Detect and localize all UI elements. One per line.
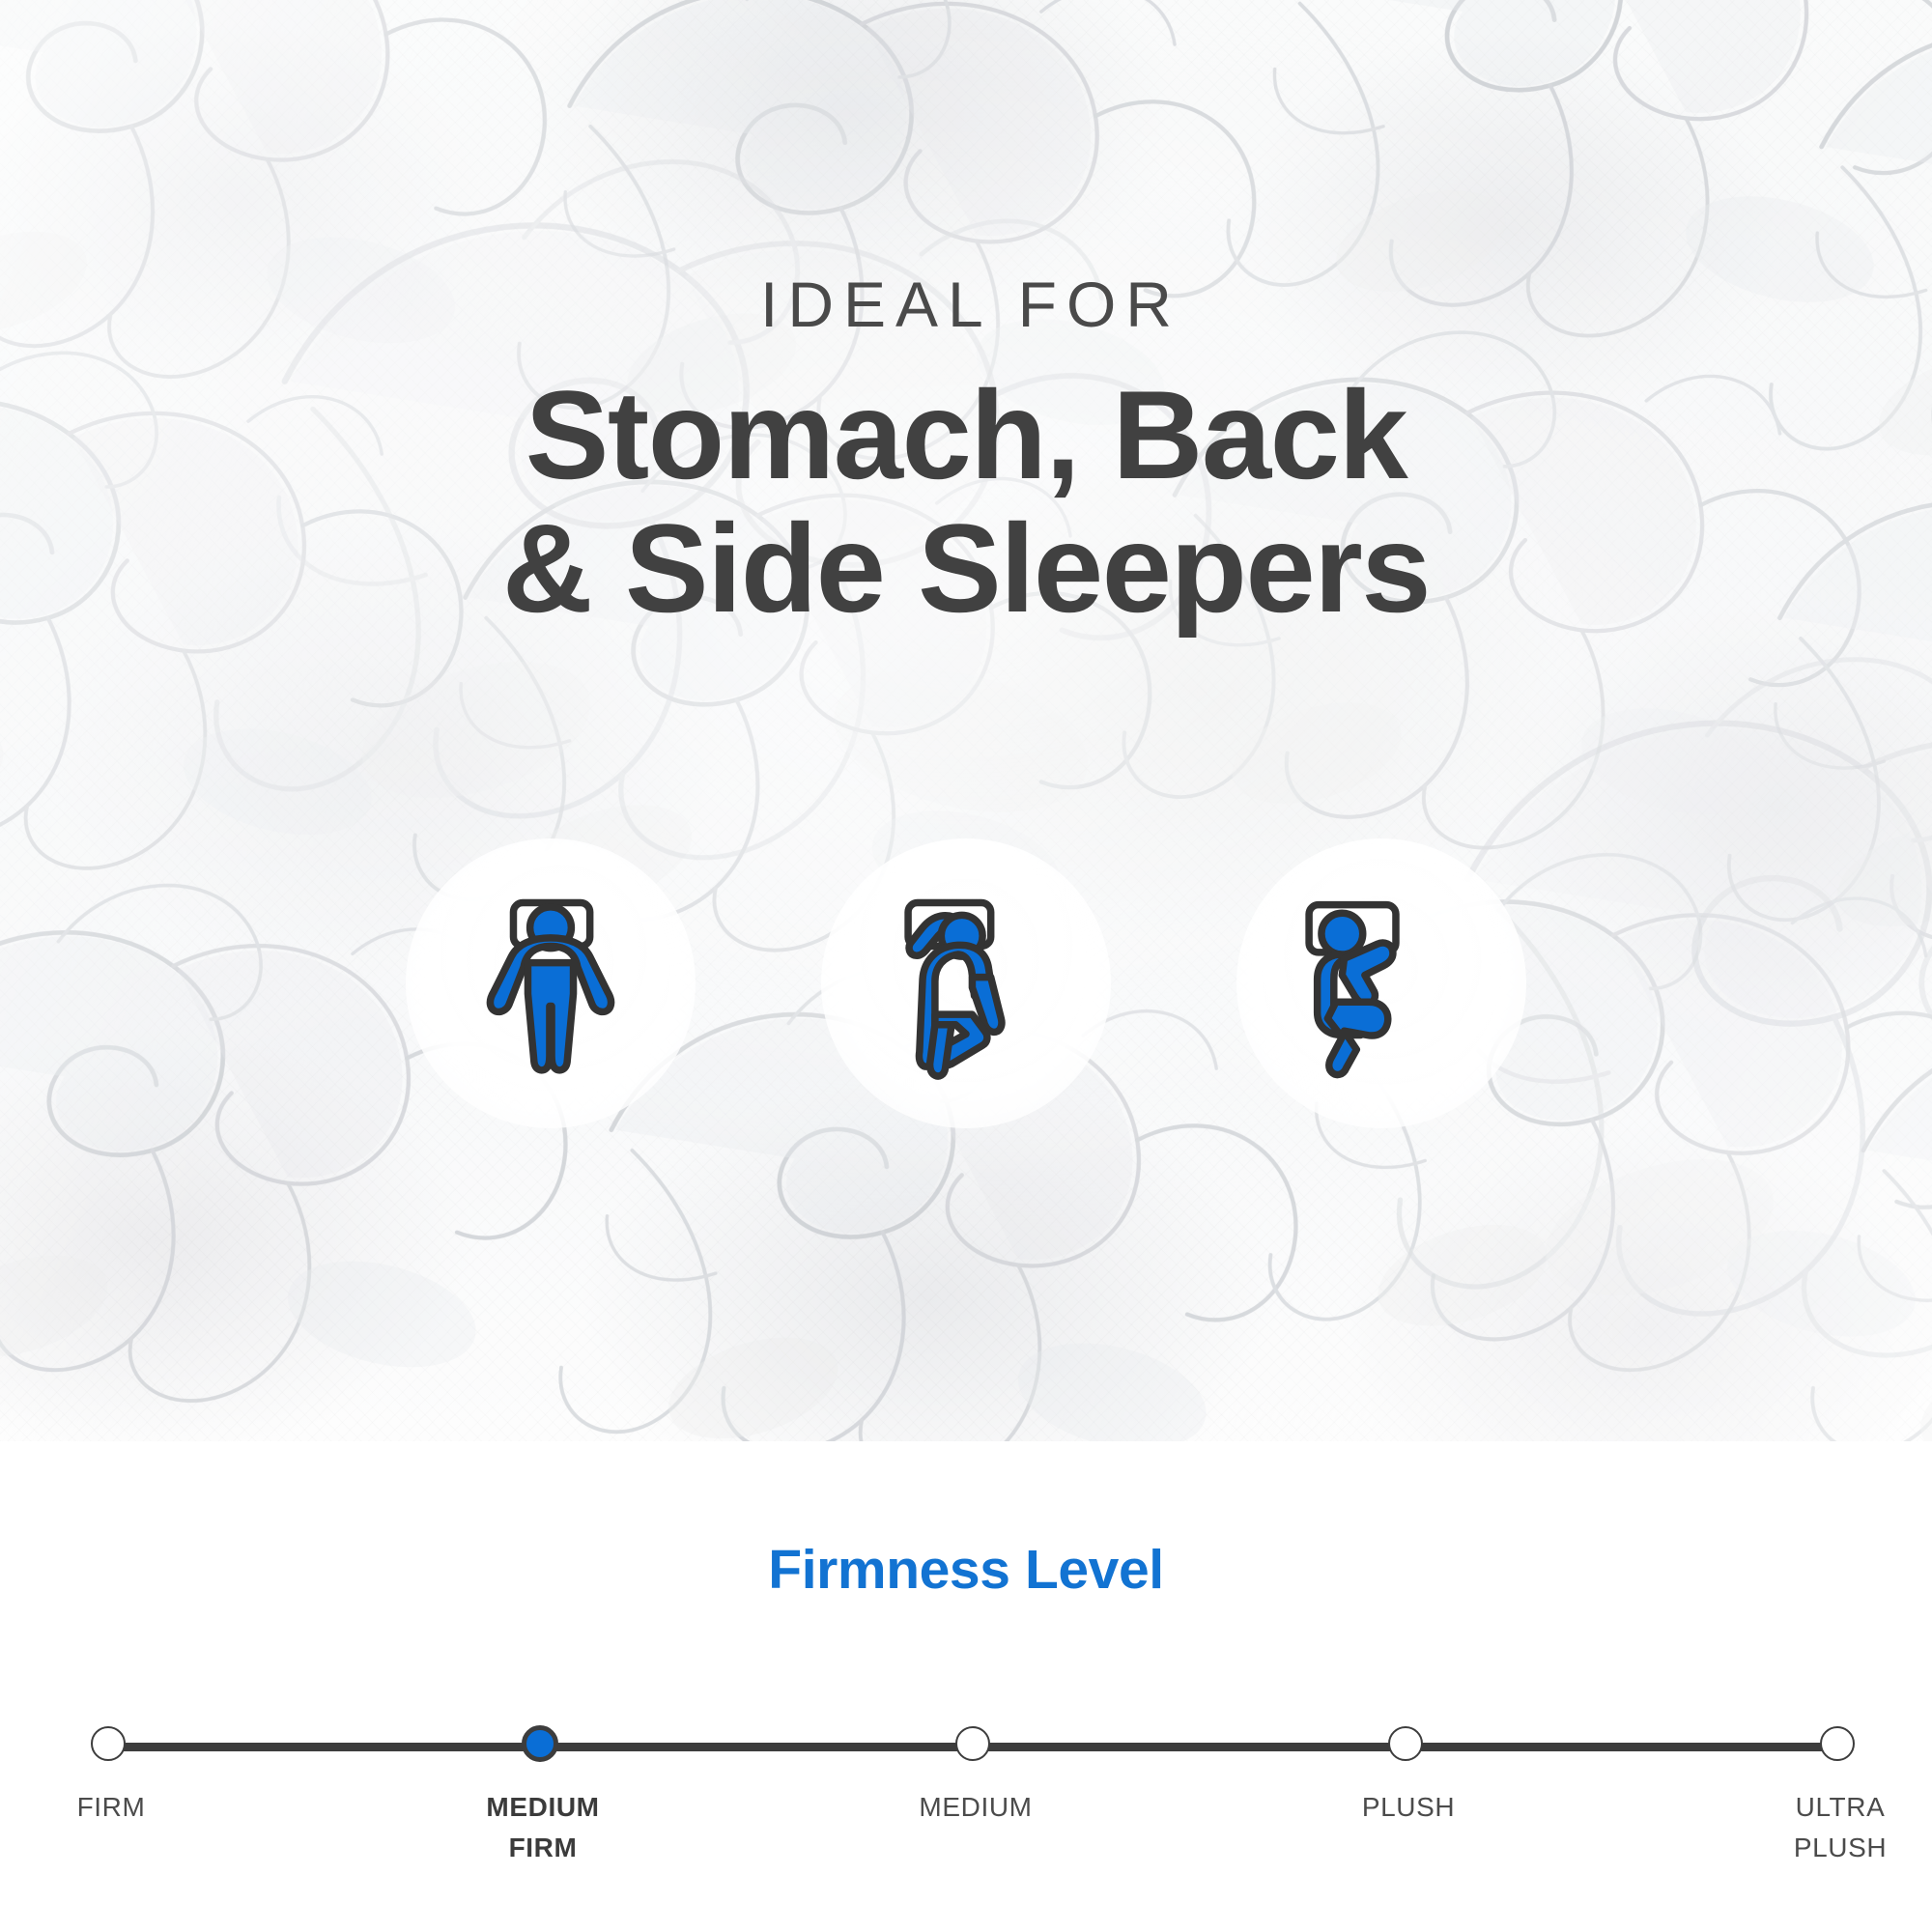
hero-kicker: IDEAL FOR xyxy=(0,272,1932,336)
side-sleeper-icon xyxy=(1278,880,1485,1087)
hero-text-block: IDEAL FOR Stomach, Back & Side Sleepers xyxy=(0,0,1932,636)
firmness-label-medium-firm-line1: MEDIUM xyxy=(388,1787,697,1828)
sleeper-icons-row xyxy=(0,829,1932,1138)
back-sleeper-icon xyxy=(447,880,654,1087)
firmness-label-medium-line1: MEDIUM xyxy=(821,1787,1130,1828)
firmness-label-medium-firm: MEDIUM FIRM xyxy=(388,1787,697,1868)
back-sleeper-badge xyxy=(406,838,696,1128)
firmness-label-ultra-plush-line2: PLUSH xyxy=(1686,1828,1932,1868)
firmness-label-medium-firm-line2: FIRM xyxy=(388,1828,697,1868)
firmness-dot-plush[interactable] xyxy=(1388,1726,1423,1761)
firmness-label-firm-line1: FIRM xyxy=(0,1787,266,1828)
product-feature-card: IDEAL FOR Stomach, Back & Side Sleepers xyxy=(0,0,1932,1932)
firmness-title: Firmness Level xyxy=(0,1538,1932,1602)
stomach-sleeper-icon xyxy=(863,880,1069,1087)
stomach-sleeper-badge xyxy=(821,838,1111,1128)
page-title-line-2: & Side Sleepers xyxy=(0,502,1932,636)
firmness-dot-medium[interactable] xyxy=(955,1726,990,1761)
side-sleeper-badge xyxy=(1236,838,1526,1128)
firmness-panel: Firmness Level FIRM MEDIUM FIRM MEDIU xyxy=(0,1441,1932,1932)
page-title: Stomach, Back & Side Sleepers xyxy=(0,369,1932,636)
firmness-label-medium: MEDIUM xyxy=(821,1787,1130,1828)
firmness-dot-firm[interactable] xyxy=(91,1726,126,1761)
firmness-dot-ultra-plush[interactable] xyxy=(1820,1726,1855,1761)
firmness-label-ultra-plush: ULTRA PLUSH xyxy=(1686,1787,1932,1868)
firmness-label-plush: PLUSH xyxy=(1254,1787,1563,1828)
firmness-dot-medium-firm[interactable] xyxy=(522,1725,558,1762)
firmness-label-plush-line1: PLUSH xyxy=(1254,1787,1563,1828)
firmness-scale[interactable]: FIRM MEDIUM FIRM MEDIUM PLUSH xyxy=(0,1727,1932,1920)
firmness-label-ultra-plush-line1: ULTRA xyxy=(1686,1787,1932,1828)
firmness-label-firm: FIRM xyxy=(0,1787,266,1828)
page-title-line-1: Stomach, Back xyxy=(0,369,1932,502)
